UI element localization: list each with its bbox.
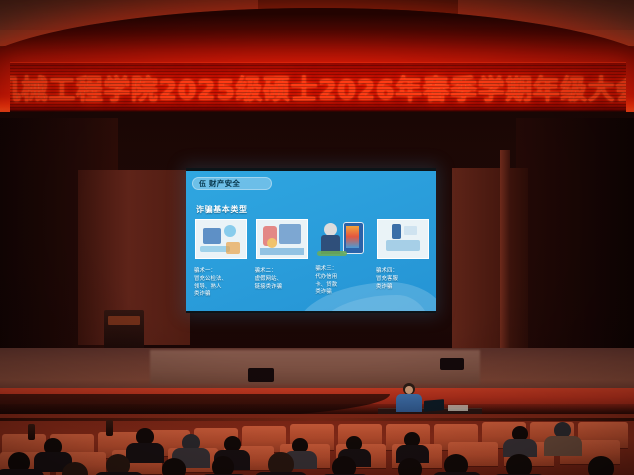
audience-head xyxy=(162,458,186,475)
caption-line: 虚假网站、 xyxy=(255,276,309,284)
audience-shoulders xyxy=(126,443,164,463)
slide-section-title: 财产安全 xyxy=(209,178,240,189)
fraud-illustration-fake-service-icon xyxy=(377,219,429,259)
slide-card: 骗术三： 代办信用 卡、贷款 类诈骗 xyxy=(315,219,369,299)
auditorium-photo: 机械工程学院2025级硕士2026年春季学期年级大会 伍 财产安全 诈骗基本类型 xyxy=(0,0,634,475)
table-papers xyxy=(448,405,468,411)
proscenium-edge-right xyxy=(500,150,510,350)
presenter-torso xyxy=(396,394,422,412)
caption-line: 骗术三： xyxy=(315,266,369,274)
fraud-illustration-impersonation-icon xyxy=(195,219,247,259)
aisle-lamp xyxy=(106,420,113,436)
slide-title-tab: 伍 财产安全 xyxy=(192,177,272,190)
slide-card-row: 骗术一： 冒充公检法、 领导、熟人 类诈骗 骗术二： 虚假网站、 链接类诈骗 xyxy=(194,219,430,299)
caption-line: 骗术一： xyxy=(194,268,248,276)
led-banner-text: 机械工程学院2025级硕士2026年春季学期年级大会 xyxy=(10,68,626,107)
house-rail xyxy=(0,418,634,421)
slide-subtitle: 诈骗基本类型 xyxy=(196,204,248,215)
slide-card-caption: 骗术三： 代办信用 卡、贷款 类诈骗 xyxy=(315,266,369,297)
slide-card: 骗术四： 冒充客服 类诈骗 xyxy=(376,219,430,299)
slide-card: 骗术二： 虚假网站、 链接类诈骗 xyxy=(255,219,309,299)
audience-head xyxy=(506,454,532,475)
seated-presenter xyxy=(396,383,422,411)
slide-section-number: 伍 xyxy=(199,179,206,189)
slide-card: 骗术一： 冒充公检法、 领导、熟人 类诈骗 xyxy=(194,219,248,299)
stage-floor-lit-area xyxy=(150,350,480,384)
caption-line: 冒充客服 xyxy=(376,276,430,284)
slide-card-caption: 骗术四： 冒充客服 类诈骗 xyxy=(376,268,430,291)
audience-head xyxy=(398,458,422,475)
caption-line: 链接类诈骗 xyxy=(255,284,309,292)
stage-monitor-speaker xyxy=(440,358,464,370)
presentation-slide: 伍 财产安全 诈骗基本类型 骗术一： 冒充公检法、 领导、熟人 类诈骗 xyxy=(186,171,436,311)
lectern-top-light xyxy=(108,316,140,325)
caption-line: 冒充公检法、 xyxy=(194,276,248,284)
stage-wall-right xyxy=(516,118,634,358)
fraud-illustration-fake-website-icon xyxy=(256,219,308,259)
slide-card-caption: 骗术二： 虚假网站、 链接类诈骗 xyxy=(255,268,309,291)
audience-head xyxy=(332,456,356,475)
projection-screen: 伍 财产安全 诈骗基本类型 骗术一： 冒充公检法、 领导、熟人 类诈骗 xyxy=(186,168,436,313)
caption-line: 代办信用 xyxy=(315,274,369,282)
led-banner: 机械工程学院2025级硕士2026年春季学期年级大会 xyxy=(10,62,626,113)
presenter-laptop xyxy=(424,399,444,412)
audience-shoulders xyxy=(0,469,44,475)
proscenium-reveal-right xyxy=(452,168,528,348)
aisle-lamp xyxy=(28,424,35,440)
stage-monitor-speaker xyxy=(248,368,274,382)
caption-line: 类诈骗 xyxy=(376,284,430,292)
audience-head xyxy=(212,456,234,475)
audience-shoulders xyxy=(544,436,582,456)
audience-seating-area xyxy=(0,414,634,475)
caption-line: 骗术四： xyxy=(376,268,430,276)
caption-line: 类诈骗 xyxy=(194,291,248,299)
presenter-face xyxy=(405,386,413,394)
fraud-illustration-credit-card-icon xyxy=(317,219,367,257)
audience-head xyxy=(588,456,614,475)
slide-card-caption: 骗术一： 冒充公检法、 领导、熟人 类诈骗 xyxy=(194,268,248,299)
caption-line: 骗术二： xyxy=(255,268,309,276)
caption-line: 类诈骗 xyxy=(315,289,369,297)
